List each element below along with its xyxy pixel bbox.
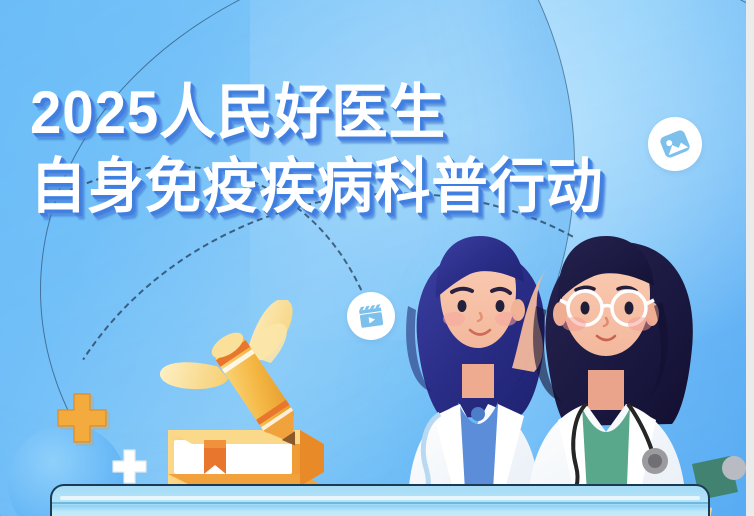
poster-root: 2025人民好医生 自身免疫疾病科普行动	[0, 0, 754, 516]
doctor-right	[512, 236, 746, 516]
doctor-right-eye	[581, 302, 590, 315]
image-icon	[658, 127, 692, 161]
image-icon-badge[interactable]	[648, 117, 702, 171]
doctor-left-eye	[496, 300, 505, 312]
plus-orange-icon	[58, 394, 109, 445]
right-edge-strip	[746, 0, 754, 516]
doctor-left-neck	[462, 364, 494, 398]
doctor-left-eye	[458, 300, 467, 312]
round-badge	[722, 456, 746, 480]
video-icon-badge[interactable]	[347, 292, 395, 340]
title-line-2: 自身免疫疾病科普行动	[30, 156, 603, 217]
video-clapperboard-icon	[356, 301, 386, 331]
doctor-left	[406, 236, 545, 516]
doctors-illustration	[396, 218, 746, 516]
plus-decorations	[52, 388, 182, 498]
desk-edge-line	[52, 502, 708, 504]
poster-background: 2025人民好医生 自身免疫疾病科普行动	[0, 0, 746, 516]
title-line-1: 2025人民好医生	[30, 82, 603, 143]
desk-bar	[50, 484, 710, 516]
doctor-right-neck	[588, 370, 624, 410]
poster-title: 2025人民好医生 自身免疫疾病科普行动	[30, 82, 640, 217]
closed-book	[168, 430, 324, 486]
plus-white-icon	[113, 450, 146, 483]
doctor-right-eye	[625, 302, 634, 315]
